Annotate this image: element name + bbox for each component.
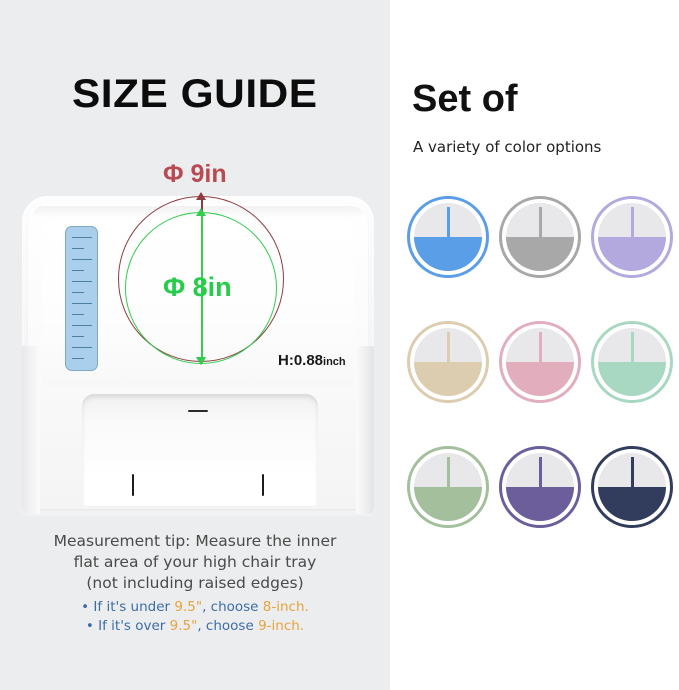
- bullet-2-middle: , choose: [197, 618, 258, 634]
- color-swatch-navy[interactable]: [591, 446, 673, 528]
- swatch-divider-icon: [539, 457, 542, 487]
- tip-line-2: flat area of your high chair tray: [0, 552, 390, 573]
- tray-slot-right: [262, 474, 264, 496]
- color-options-panel: Set of A variety of color options: [390, 0, 679, 690]
- height-label: H:0.88inch: [278, 352, 346, 369]
- set-of-subtitle: A variety of color options: [413, 138, 601, 156]
- bullet-2-choice: 9-inch.: [258, 618, 304, 634]
- swatch-fill: [414, 487, 482, 521]
- outer-diameter-label: Φ 9in: [163, 160, 227, 189]
- color-swatch-deep-purple[interactable]: [499, 446, 581, 528]
- tray-center-mark: [188, 410, 208, 412]
- measurement-tip: Measurement tip: Measure the inner flat …: [0, 531, 390, 594]
- swatch-divider-icon: [631, 207, 634, 237]
- color-swatch-beige[interactable]: [407, 321, 489, 403]
- swatch-fill: [598, 362, 666, 396]
- height-unit: inch: [323, 356, 346, 368]
- swatch-divider-icon: [447, 457, 450, 487]
- ruler-graphic: [65, 226, 98, 371]
- color-swatch-gray[interactable]: [499, 196, 581, 278]
- tip-line-3: (not including raised edges): [0, 573, 390, 594]
- swatch-disc: [598, 203, 666, 271]
- swatch-disc: [414, 203, 482, 271]
- swatch-divider-icon: [447, 207, 450, 237]
- inner-diameter-label: Φ 8in: [163, 272, 232, 303]
- swatch-disc: [506, 453, 574, 521]
- swatch-disc: [414, 453, 482, 521]
- bullet-1-choice: 8-inch.: [263, 599, 309, 615]
- bullet-2-threshold: 9.5": [170, 618, 198, 634]
- swatch-fill: [506, 487, 574, 521]
- swatch-fill: [598, 487, 666, 521]
- swatch-disc: [598, 453, 666, 521]
- swatch-disc: [506, 328, 574, 396]
- page-title: SIZE GUIDE: [72, 72, 318, 117]
- tip-line-1: Measurement tip: Measure the inner: [0, 531, 390, 552]
- swatch-fill: [506, 362, 574, 396]
- swatch-disc: [414, 328, 482, 396]
- swatch-fill: [414, 362, 482, 396]
- size-recommendation-list: • If it's under 9.5", choose 8-inch. • I…: [0, 598, 390, 636]
- swatch-disc: [598, 328, 666, 396]
- inner-arrow-down-icon: [196, 357, 206, 365]
- inner-arrow-up-icon: [196, 208, 206, 216]
- color-swatch-sage-green[interactable]: [407, 446, 489, 528]
- height-value: H:0.88: [278, 352, 323, 369]
- swatch-fill: [598, 237, 666, 271]
- swatch-divider-icon: [631, 457, 634, 487]
- tray-side-left: [22, 346, 40, 514]
- bullet-1-prefix: • If it's under: [81, 599, 174, 615]
- list-item: • If it's over 9.5", choose 9-inch.: [0, 617, 390, 636]
- infographic-root: SIZE GUIDE: [0, 0, 679, 690]
- bullet-1-threshold: 9.5": [174, 599, 202, 615]
- swatch-divider-icon: [539, 207, 542, 237]
- swatch-disc: [506, 203, 574, 271]
- tray-side-right: [356, 346, 374, 514]
- swatch-divider-icon: [539, 332, 542, 362]
- color-swatch-blue[interactable]: [407, 196, 489, 278]
- swatch-fill: [414, 237, 482, 271]
- size-guide-panel: SIZE GUIDE: [0, 0, 390, 690]
- color-swatch-lavender[interactable]: [591, 196, 673, 278]
- swatch-fill: [506, 237, 574, 271]
- swatch-divider-icon: [631, 332, 634, 362]
- color-swatch-grid: [402, 196, 678, 571]
- color-swatch-dusty-pink[interactable]: [499, 321, 581, 403]
- color-swatch-mint[interactable]: [591, 321, 673, 403]
- bullet-2-prefix: • If it's over: [86, 618, 170, 634]
- bullet-1-middle: , choose: [202, 599, 263, 615]
- tray-slot-left: [132, 474, 134, 496]
- list-item: • If it's under 9.5", choose 8-inch.: [0, 598, 390, 617]
- outer-arrow-up-icon: [196, 192, 206, 200]
- set-of-title: Set of: [412, 78, 518, 121]
- swatch-divider-icon: [447, 332, 450, 362]
